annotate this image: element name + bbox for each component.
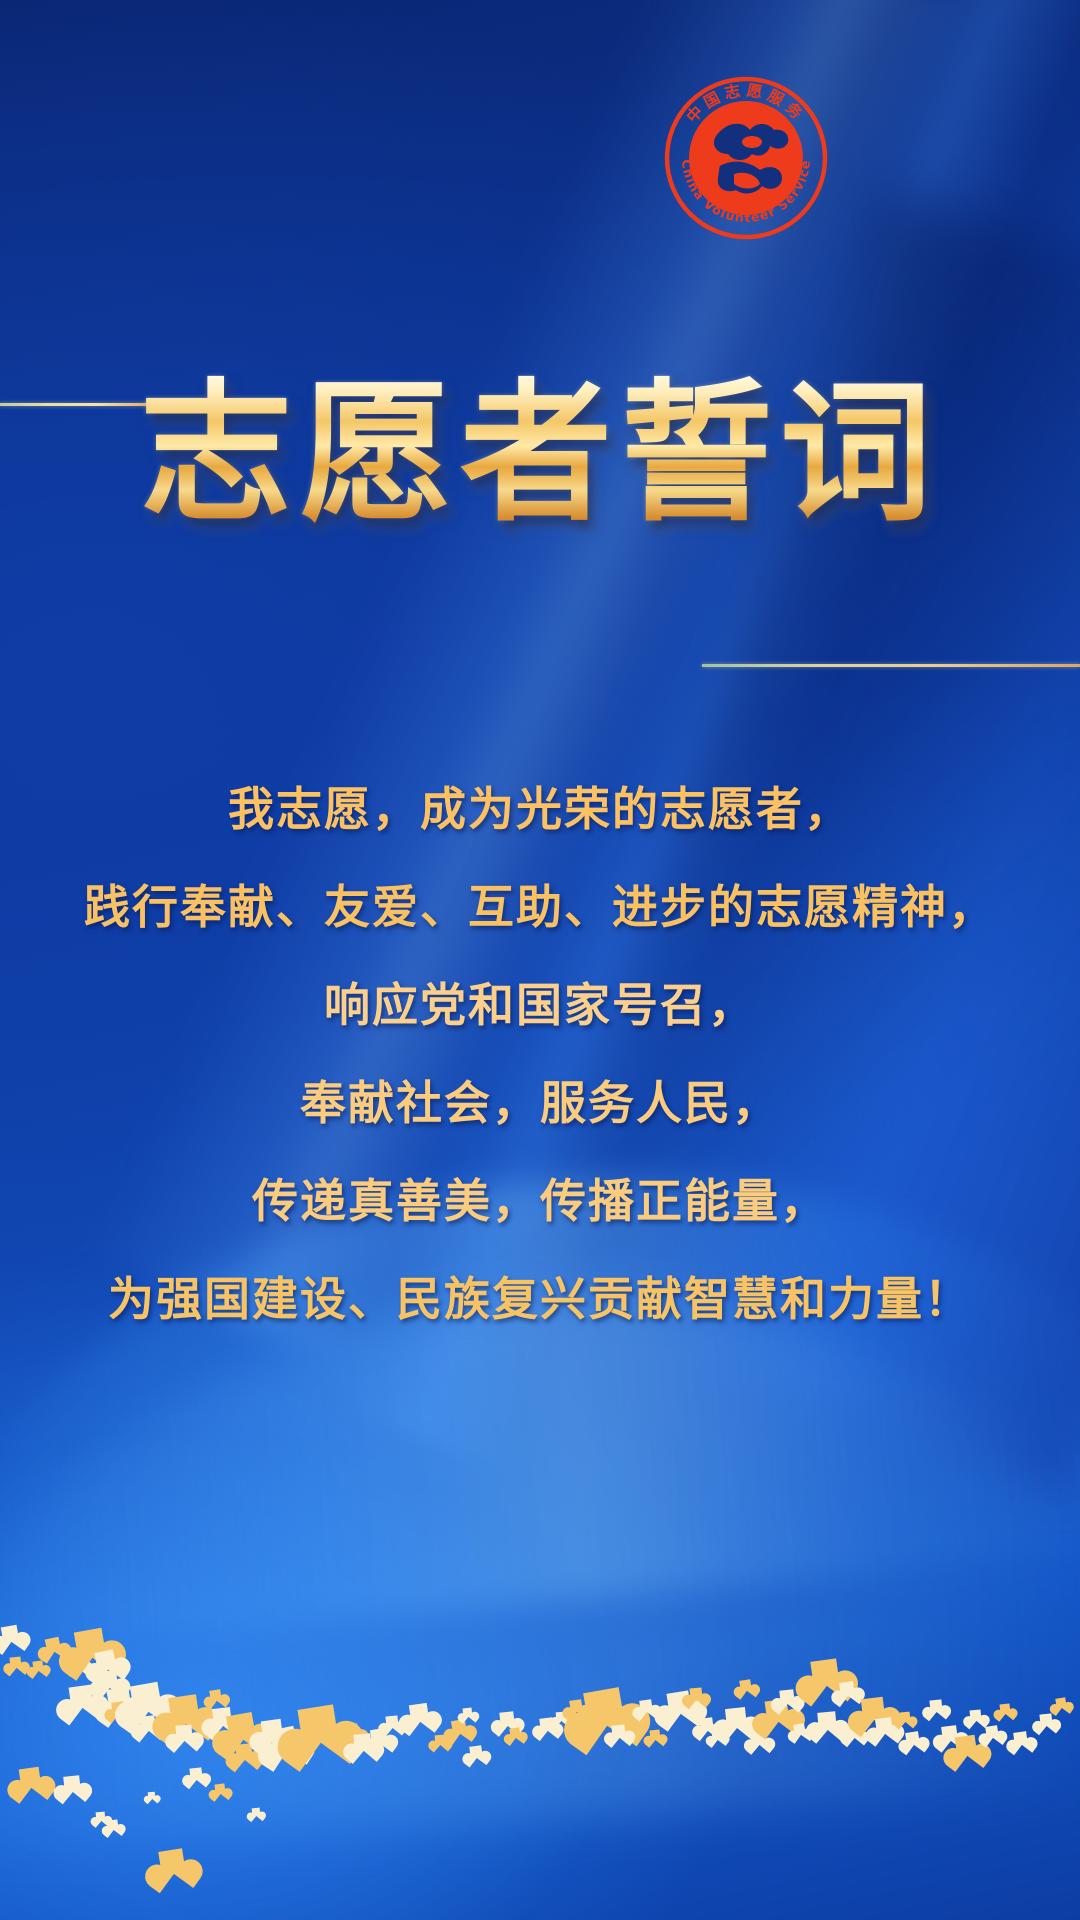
- oath-line-3: 响应党和国家号召，: [0, 956, 1080, 1054]
- oath-line-5: 传递真善美，传播正能量，: [0, 1152, 1080, 1250]
- oath-line-2: 践行奉献、友爱、互助、进步的志愿精神，: [0, 858, 1080, 956]
- oath-line-6: 为强国建设、民族复兴贡献智慧和力量！: [0, 1250, 1080, 1348]
- china-volunteer-service-logo-icon: 中国志愿服务 China Volunteer Service: [664, 58, 828, 256]
- page-title: 志愿者誓词: [0, 372, 1080, 536]
- gold-divider-right: [702, 664, 1080, 667]
- oath-text-block: 我志愿，成为光荣的志愿者， 践行奉献、友爱、互助、进步的志愿精神， 响应党和国家…: [0, 760, 1080, 1348]
- oath-line-4: 奉献社会，服务人民，: [0, 1054, 1080, 1152]
- oath-line-1: 我志愿，成为光荣的志愿者，: [0, 760, 1080, 858]
- poster-canvas: 中国志愿服务 China Volunteer Service 志愿者誓词 我志愿…: [0, 0, 1080, 1920]
